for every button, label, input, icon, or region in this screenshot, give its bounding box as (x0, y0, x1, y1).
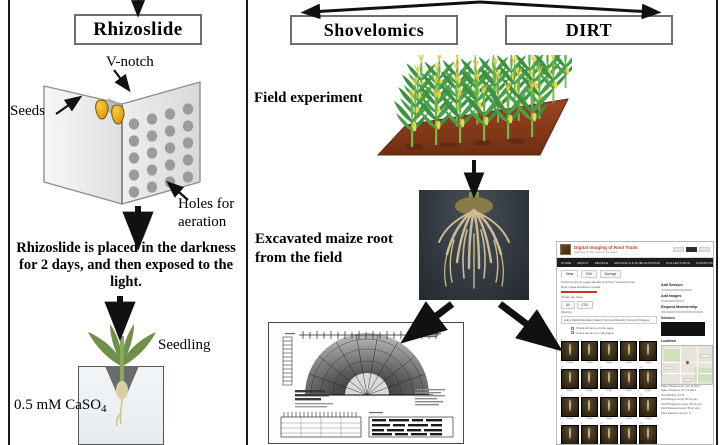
dirt-thumb-cell[interactable]: 9image (620, 366, 638, 392)
dirt-thumb-caption: image (639, 417, 657, 420)
dirt-thumb-caption: image (581, 417, 599, 420)
arrow-to-dirt (480, 2, 652, 12)
dirt-web-application-screenshot[interactable]: Digital Imaging of Root Traits Working o… (556, 241, 714, 445)
root-thumbnail[interactable] (581, 425, 599, 445)
dirt-thumb-cell[interactable]: 11image (561, 394, 579, 420)
dirt-thumb-caption: image (561, 361, 579, 364)
map-label-chip (665, 366, 674, 370)
label-caso4-solution: 0.5 mM CaSO4 (14, 396, 107, 414)
dirt-checkbox-all-label: Check all items on all pages (576, 331, 613, 336)
dirt-body: Sessions are for page uploads and their … (557, 280, 713, 445)
map-road (697, 346, 698, 385)
dirt-sidebar: Add Session Add Images Request Membershi… (661, 280, 713, 445)
label-seeds: Seeds (10, 103, 45, 121)
dirt-thumb-cell[interactable]: 18image (600, 422, 618, 445)
dirt-thumb-cell[interactable]: 3image (600, 338, 618, 364)
root-thumbnail[interactable] (620, 397, 638, 417)
root-thumbnail[interactable] (561, 425, 579, 445)
map-road (662, 373, 713, 374)
map-label-chip (684, 378, 692, 382)
root-thumbnail[interactable] (561, 341, 579, 361)
root-thumbnail[interactable] (600, 369, 618, 389)
label-caso4-subscript: 4 (101, 403, 106, 415)
dirt-thumb-caption: image (600, 389, 618, 392)
arrow-to-shovelomics (310, 2, 480, 12)
arrow-root-to-dirt-app (500, 304, 545, 338)
root-thumbnail[interactable] (600, 341, 618, 361)
root-thumbnail[interactable] (639, 425, 657, 445)
dirt-thumb-caption: image (620, 361, 638, 364)
workflow-figure: Rhizoslide Shovelomics DIRT (0, 0, 724, 445)
label-v-notch: V-notch (106, 54, 154, 72)
dirt-thumbnail-grid[interactable]: 1image 2image 3image 4image 5image 6imag… (561, 338, 657, 445)
root-thumbnail[interactable] (620, 341, 638, 361)
dirt-output-option-csv[interactable]: CSV (577, 301, 594, 309)
dirt-thumb-cell[interactable]: 17image (581, 422, 599, 445)
dirt-sidebar-location: Location (661, 339, 713, 343)
dirt-nav-people[interactable]: PEOPLE (595, 261, 609, 265)
rhizoslide-device-illustration (38, 62, 208, 212)
dirt-filter-label: Filtering (561, 310, 657, 315)
dirt-nav-collections[interactable]: COLLECTIONS (666, 261, 690, 265)
label-field-experiment: Field experiment (254, 90, 363, 108)
dirt-checkbox-page[interactable] (571, 327, 574, 330)
dirt-header: Digital Imaging of Root Traits Working o… (557, 242, 713, 258)
dirt-logout-chip[interactable] (699, 247, 710, 252)
seedling-illustration (72, 318, 172, 445)
dirt-nav-manuals[interactable]: MANUALS & PUBLICATIONS (614, 261, 660, 265)
dirt-thumb-caption: image (600, 361, 618, 364)
root-thumbnail[interactable] (620, 369, 638, 389)
dirt-title-wrap: Digital Imaging of Root Traits Working o… (574, 245, 673, 254)
dirt-tab-manage[interactable]: Manage (600, 270, 622, 278)
dirt-nav-computation[interactable]: COMPUTATION (696, 261, 714, 265)
dirt-session-preview-image (661, 322, 705, 336)
dirt-thumb-cell[interactable]: 16image (561, 422, 579, 445)
dirt-thumb-cell[interactable]: 7image (581, 366, 599, 392)
dirt-thumb-cell[interactable]: 14image (620, 394, 638, 420)
dirt-thumb-cell[interactable]: 15image (639, 394, 657, 420)
maize-field-illustration (372, 55, 572, 167)
dirt-thumb-caption: image (620, 417, 638, 420)
dirt-thumb-cell[interactable]: 10image (639, 366, 657, 392)
maize-shovelomics-scoreboard (268, 322, 464, 444)
map-green-area (664, 349, 680, 361)
dirt-thumb-cell[interactable]: 2image (581, 338, 599, 364)
title-box-rhizoslide: Rhizoslide (74, 14, 202, 45)
root-thumbnail[interactable] (581, 397, 599, 417)
dirt-checkbox-all[interactable] (571, 331, 574, 334)
dirt-thumb-caption: image (561, 417, 579, 420)
map-label-chip (700, 354, 711, 358)
dirt-thumb-cell[interactable]: 19image (620, 422, 638, 445)
dirt-output-option-all[interactable]: All (561, 301, 575, 309)
dirt-thumb-cell[interactable]: 4image (620, 338, 638, 364)
dirt-sidebar-add-session[interactable]: Add Session (661, 283, 713, 287)
root-thumbnail[interactable] (639, 369, 657, 389)
dirt-sidebar-add-images[interactable]: Add Images (661, 294, 713, 298)
dirt-thumb-cell[interactable]: 8image (600, 366, 618, 392)
root-thumbnail[interactable] (600, 425, 618, 445)
dirt-site-subtitle: Working on the roots of the issue (574, 250, 673, 254)
dirt-thumb-caption: image (600, 417, 618, 420)
dirt-user-avatar[interactable] (686, 247, 697, 252)
dirt-thumb-caption: image (581, 389, 599, 392)
dirt-thumb-cell[interactable]: 20image (639, 422, 657, 445)
dirt-thumb-cell[interactable]: 13image (600, 394, 618, 420)
title-text-rhizoslide: Rhizoslide (93, 19, 182, 41)
dirt-thumb-cell[interactable]: 1image (561, 338, 579, 364)
dirt-thumb-cell[interactable]: 6image (561, 366, 579, 392)
label-excavated-maize-root: Excavated maize root from the field (255, 230, 415, 268)
title-text-shovelomics: Shovelomics (324, 20, 425, 41)
label-holes-for-aeration: Holes for aeration (178, 196, 248, 231)
dirt-extraction-label: Root image Extraction results: (561, 285, 657, 290)
figure-left-border (8, 0, 10, 445)
dirt-filter-bar[interactable]: Add a Marker/Exclude | Select | Sort and… (561, 316, 657, 324)
dirt-nav-about[interactable]: ABOUT (577, 261, 589, 265)
dirt-tab-bar[interactable]: View Edit Manage (557, 267, 713, 280)
root-thumbnail[interactable] (600, 397, 618, 417)
dirt-tab-edit[interactable]: Edit (581, 270, 597, 278)
dirt-nav-home[interactable]: HOME (561, 261, 571, 265)
dirt-user-controls[interactable] (673, 247, 710, 252)
title-box-dirt: DIRT (505, 15, 673, 45)
label-seedling: Seedling (158, 337, 211, 355)
dirt-sidebar-session: Session (661, 316, 713, 320)
root-thumbnail[interactable] (581, 369, 599, 389)
dirt-thumb-caption: image (581, 361, 599, 364)
dirt-sidebar-request-membership[interactable]: Request Membership (661, 305, 713, 309)
dirt-sidebar-rule (661, 300, 684, 302)
dirt-output-label: Output per class (561, 295, 657, 300)
dirt-logo-icon (560, 244, 571, 255)
root-thumbnail[interactable] (561, 397, 579, 417)
dirt-main-nav[interactable]: HOME ABOUT PEOPLE MANUALS & PUBLICATIONS… (557, 258, 713, 267)
dirt-main-column: Sessions are for page uploads and their … (561, 280, 657, 445)
label-caso4-text: 0.5 mM CaSO (14, 397, 101, 413)
dirt-meta-plant-diameter: Plant Diameter at 2cm: 5 (661, 412, 713, 416)
title-text-dirt: DIRT (566, 20, 612, 41)
dirt-thumb-cell[interactable]: 12image (581, 394, 599, 420)
dirt-thumb-caption: image (639, 389, 657, 392)
map-pin-icon (685, 361, 689, 365)
dirt-sidebar-rule (661, 289, 692, 291)
dirt-thumb-caption: image (639, 361, 657, 364)
figure-right-border (716, 0, 718, 445)
caption-darkness-treatment: Rhizoslide is placed in the darkness for… (12, 240, 240, 291)
dirt-location-map[interactable] (661, 345, 713, 385)
title-box-shovelomics: Shovelomics (290, 15, 458, 45)
map-road (680, 346, 681, 385)
root-thumbnail[interactable] (620, 425, 638, 445)
dirt-sidebar-rule (661, 311, 703, 313)
root-thumbnail[interactable] (581, 341, 599, 361)
dirt-download-link[interactable] (561, 291, 597, 293)
dirt-tab-view[interactable]: View (561, 270, 578, 278)
dirt-user-chip[interactable] (673, 247, 684, 252)
root-thumbnail[interactable] (639, 397, 657, 417)
dirt-thumb-caption: image (561, 389, 579, 392)
root-thumbnail[interactable] (639, 341, 657, 361)
dirt-thumb-cell[interactable]: 5image (639, 338, 657, 364)
dirt-thumb-caption: image (620, 389, 638, 392)
excavated-root-photo (419, 190, 529, 300)
root-thumbnail[interactable] (561, 369, 579, 389)
